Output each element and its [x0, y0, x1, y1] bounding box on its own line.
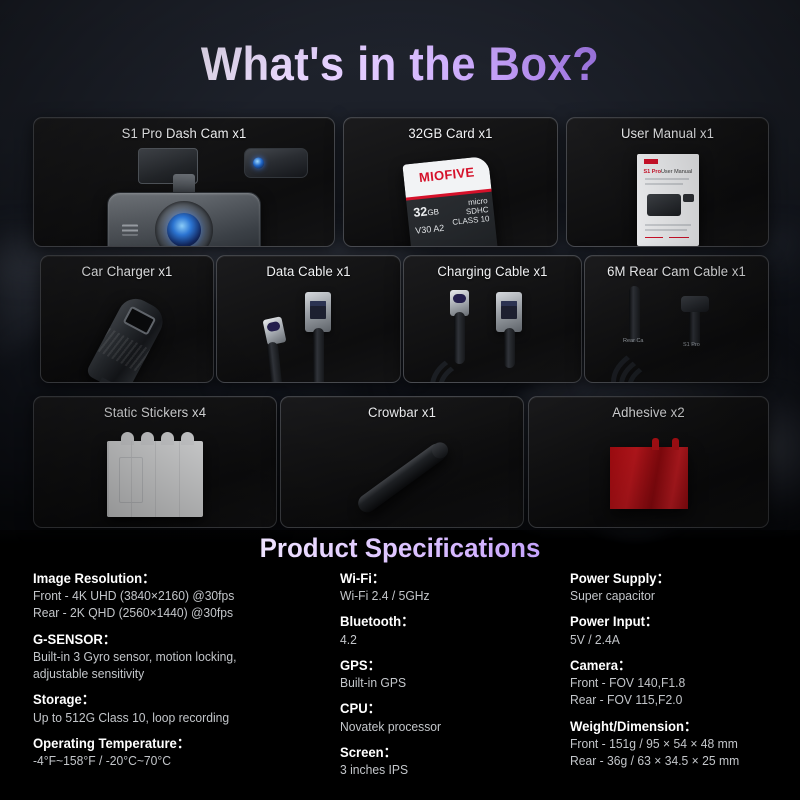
manual-text-line	[645, 229, 687, 231]
spec-value: Up to 512G Class 10, loop recording	[33, 710, 324, 727]
box-item-card-data-cable: Data Cable x1	[216, 255, 401, 383]
box-item-label: Car Charger x1	[44, 264, 211, 279]
manual-text-line	[645, 183, 683, 185]
spec-item: Camera：Front - FOV 140,F1.8Rear - FOV 11…	[570, 657, 795, 710]
spec-key: CPU：	[340, 700, 549, 718]
sticker-divider	[179, 441, 180, 517]
box-item-card-user-manual: User Manual x1 S1 ProUser Manual	[566, 117, 769, 247]
manual-rearcam-image	[683, 194, 694, 202]
adhesive-pull-tab	[672, 438, 679, 450]
crowbar-art	[281, 425, 523, 527]
spec-key: Image Resolution：	[33, 570, 324, 588]
sticker-tab	[181, 432, 194, 445]
box-item-card-adhesive: Adhesive x2	[528, 396, 769, 528]
charging-cable-art	[404, 284, 581, 382]
spec-value: Wi-Fi 2.4 / 5GHz	[340, 588, 549, 605]
user-manual-art: S1 ProUser Manual	[567, 146, 768, 246]
sticker-cutout	[119, 457, 143, 503]
dash-cam-body	[107, 192, 261, 247]
sticker-tab	[141, 432, 154, 445]
spec-item: Power Input：5V / 2.4A	[570, 613, 795, 648]
rear-cam-cable-art: Rear Ca S1 Pro	[585, 284, 768, 382]
box-item-card-crowbar: Crowbar x1	[280, 396, 524, 528]
spec-value: Novatek processor	[340, 719, 549, 736]
spec-key: GPS：	[340, 657, 549, 675]
specs-column-1: Image Resolution：Front - 4K UHD (3840×21…	[33, 570, 333, 778]
dash-cam-art	[34, 146, 334, 246]
usb-port-icon	[123, 306, 157, 336]
usb-a-connector	[305, 292, 331, 332]
specifications-title: Product Specifications	[16, 533, 784, 564]
cable-port-label: Rear Ca	[623, 338, 643, 344]
box-item-label: Adhesive x2	[533, 405, 765, 420]
spec-item: GPS：Built-in GPS	[340, 657, 555, 692]
box-item-card-car-charger: Car Charger x1	[40, 255, 214, 383]
box-item-label: 32GB Card x1	[347, 126, 554, 141]
usb-c-connector	[263, 316, 287, 345]
microsd-logo-block: micro SDHC CLASS 10	[449, 196, 489, 227]
sticker-tab	[161, 432, 174, 445]
spec-item: Bluetooth：4.2	[340, 613, 555, 648]
box-item-card-charging-cable: Charging Cable x1	[403, 255, 582, 383]
box-item-card-dash-cam: S1 Pro Dash Cam x1	[33, 117, 335, 247]
manual-text-line	[645, 178, 689, 180]
microsd-card-art: MIOFIVE 32GB V30 A2 micro SDHC CLASS 10	[344, 146, 557, 246]
microsd-speed-class: V30 A2	[414, 223, 444, 236]
spec-key: Power Supply：	[570, 570, 788, 588]
box-item-card-static-stickers: Static Stickers x4	[33, 396, 277, 528]
spec-value: Built-in GPS	[340, 675, 549, 692]
data-cable-wire	[267, 342, 283, 383]
spec-key: Storage：	[33, 691, 324, 709]
box-item-card-rear-cam-cable: 6M Rear Cam Cable x1 Rear Ca S1 Pro	[584, 255, 769, 383]
adhesive-pads	[610, 447, 688, 509]
manual-device-image	[647, 194, 681, 216]
right-angle-connector	[681, 296, 709, 312]
spec-key: Power Input：	[570, 613, 788, 631]
adhesive-art	[529, 425, 768, 527]
spec-value: Built-in 3 Gyro sensor, motion locking,	[33, 649, 324, 666]
spec-value: 3 inches IPS	[340, 762, 549, 779]
spec-item: Power Supply：Super capacitor	[570, 570, 795, 605]
spec-item: Operating Temperature：-4°F~158°F / -20°C…	[33, 735, 333, 770]
spec-key: G-SENSOR：	[33, 631, 324, 649]
rear-cam-cable-wire	[629, 286, 640, 342]
spec-item: Storage：Up to 512G Class 10, loop record…	[33, 691, 333, 726]
rear-camera-icon	[244, 148, 308, 178]
car-charger-art	[41, 284, 213, 382]
charger-grip-texture	[97, 328, 150, 373]
manual-heading: S1 ProUser Manual	[644, 168, 693, 175]
spec-value: Rear - 2K QHD (2560×1440) @30fps	[33, 605, 324, 622]
data-cable-wire	[313, 328, 324, 383]
user-manual-booklet: S1 ProUser Manual	[637, 154, 699, 246]
spec-value: -4°F~158°F / -20°C~70°C	[33, 753, 324, 770]
adhesive-pull-tab	[652, 438, 659, 450]
spec-value: 5V / 2.4A	[570, 632, 788, 649]
spec-item: Wi-Fi：Wi-Fi 2.4 / 5GHz	[340, 570, 555, 605]
manual-footer-mark	[645, 237, 663, 239]
specs-column-2: Wi-Fi：Wi-Fi 2.4 / 5GHzBluetooth：4.2GPS：B…	[340, 570, 555, 787]
sticker-tab	[121, 432, 134, 445]
microsd-capacity-number: 32	[412, 204, 427, 219]
microsd-card: MIOFIVE 32GB V30 A2 micro SDHC CLASS 10	[402, 156, 499, 247]
spec-key: Screen：	[340, 744, 549, 762]
infographic-page: What's in the Box? S1 Pro Dash Cam x1 32…	[0, 0, 800, 800]
box-item-label: User Manual x1	[570, 126, 765, 141]
spec-value: Front - FOV 140,F1.8	[570, 675, 788, 692]
box-item-label: Charging Cable x1	[407, 264, 579, 279]
spec-key: Bluetooth：	[340, 613, 549, 631]
manual-heading-sub: User Manual	[661, 169, 692, 175]
spec-item: Screen：3 inches IPS	[340, 744, 555, 779]
manual-brand-tag	[644, 159, 658, 164]
box-item-label: Crowbar x1	[285, 405, 520, 420]
spec-key: Weight/Dimension：	[570, 718, 788, 736]
crowbar-tool	[355, 440, 450, 516]
manual-footer-mark	[669, 237, 689, 239]
box-item-card-sd-card: 32GB Card x1 MIOFIVE 32GB V30 A2 micro S…	[343, 117, 558, 247]
box-item-label: Static Stickers x4	[38, 405, 273, 420]
manual-text-line	[645, 224, 691, 226]
spec-value: Front - 151g / 95 × 54 × 48 mm	[570, 736, 788, 753]
box-item-label: 6M Rear Cam Cable x1	[588, 264, 766, 279]
spec-value: Front - 4K UHD (3840×2160) @30fps	[33, 588, 324, 605]
microsd-capacity: 32GB	[412, 203, 439, 220]
dash-cam-lens	[167, 213, 201, 247]
box-item-label: Data Cable x1	[220, 264, 398, 279]
manual-heading-model: S1 Pro	[644, 169, 661, 175]
dash-cam-speaker-grill	[122, 225, 138, 236]
spec-key: Operating Temperature：	[33, 735, 324, 753]
charger-contact-tip	[95, 377, 113, 383]
box-item-label: S1 Pro Dash Cam x1	[39, 126, 330, 141]
spec-item: Weight/Dimension：Front - 151g / 95 × 54 …	[570, 718, 795, 771]
microsd-capacity-unit: GB	[426, 207, 438, 217]
spec-item: Image Resolution：Front - 4K UHD (3840×21…	[33, 570, 333, 623]
spec-value: 4.2	[340, 632, 549, 649]
spec-key: Wi-Fi：	[340, 570, 549, 588]
car-charger-body	[85, 293, 169, 383]
page-title: What's in the Box?	[28, 36, 772, 91]
spec-value: Super capacitor	[570, 588, 788, 605]
dash-cam-lens-ring	[155, 201, 213, 247]
specs-column-3: Power Supply：Super capacitorPower Input：…	[570, 570, 795, 778]
specifications-section: Image Resolution：Front - 4K UHD (3840×21…	[0, 570, 800, 800]
static-stickers-art	[34, 425, 276, 527]
spec-item: CPU：Novatek processor	[340, 700, 555, 735]
spec-item: G-SENSOR：Built-in 3 Gyro sensor, motion …	[33, 631, 333, 684]
spec-value: adjustable sensitivity	[33, 666, 324, 683]
spec-key: Camera：	[570, 657, 788, 675]
static-sticker-stack	[107, 441, 203, 517]
usb-a-connector	[496, 292, 522, 332]
data-cable-art	[217, 284, 400, 382]
spec-value: Rear - 36g / 63 × 34.5 × 25 mm	[570, 753, 788, 770]
spec-value: Rear - FOV 115,F2.0	[570, 692, 788, 709]
sticker-divider	[155, 441, 156, 517]
